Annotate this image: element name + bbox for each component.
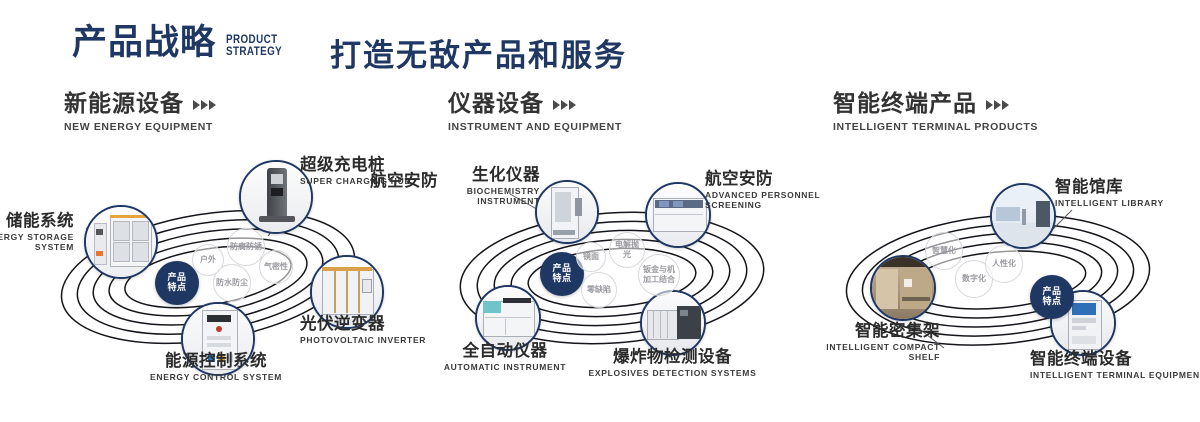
screening-photo [647,184,709,246]
product-strategy-infographic: 产品战略 PRODUCT STRATEGY 打造无敌产品和服务 新能源设备 NE… [0,0,1200,422]
label-energy-control-system: 能源控制系统 ENERGY CONTROL SYSTEM [96,352,336,383]
section-heading-en: INTELLIGENT TERMINAL PRODUCTS [833,121,1038,133]
section-heading-en: INSTRUMENT AND EQUIPMENT [448,121,622,133]
label-intelligent-terminal-equipment: 智能终端设备 INTELLIGENT TERMINAL EQUIPMENT [1030,350,1200,381]
feature-badge-new-energy: 产品 特点 [155,261,199,305]
keyword-bubble: 零缺陷 [581,272,617,308]
feature-badge-intelligent-terminal: 产品 特点 [1030,275,1074,319]
label-intelligent-library: 智能馆库 INTELLIGENT LIBRARY [1055,178,1200,209]
keyword-bubble: 智慧化 [925,232,963,270]
explosives-detection-photo [642,292,704,354]
cluster-intelligent-terminal: 智能馆库 INTELLIGENT LIBRARY 智能密集架 INTELLIGE… [800,150,1200,400]
keyword-bubble: 防水防尘 [213,264,251,302]
automatic-instrument-photo [477,287,539,349]
keyword-bubble: 电解抛光 [609,232,645,268]
energy-storage-photo [86,207,156,277]
chevron-right-icon [986,100,1009,110]
section-heading-intelligent-terminal: 智能终端产品 INTELLIGENT TERMINAL PRODUCTS [833,92,1038,133]
section-heading-cn: 仪器设备 [448,92,544,117]
library-photo [992,185,1054,247]
keyword-bubble: 人性化 [985,245,1023,283]
page-header: 产品战略 PRODUCT STRATEGY [72,26,294,61]
label-energy-storage: 储能系统 ENERGY STORAGE SYSTEM [0,212,74,253]
label-aviation-security-left: 航空安防 [318,172,438,191]
chevron-right-icon [553,100,576,110]
page-title-en: PRODUCT STRATEGY [226,33,282,58]
section-heading-en: NEW ENERGY EQUIPMENT [64,121,216,133]
keyword-bubble: 钣金与机加工结合 [638,254,680,296]
page-slogan: 打造无敌产品和服务 [330,30,627,75]
keyword-bubble: 镜面 [576,242,606,272]
keyword-bubble: 气密性 [259,250,293,284]
label-intelligent-compact-shelf: 智能密集架 INTELLIGENT COMPACT SHELF [755,322,940,363]
page-title-cn: 产品战略 [72,26,216,61]
node-advanced-personnel-screening[interactable] [645,182,711,248]
biochemistry-photo [537,182,597,242]
node-intelligent-library[interactable] [990,183,1056,249]
node-biochemistry-instrument[interactable] [535,180,599,244]
chevron-right-icon [193,100,216,110]
section-heading-instrument: 仪器设备 INSTRUMENT AND EQUIPMENT [448,92,622,133]
cluster-instrument: 生化仪器 BIOCHEMISTRY INSTRUMENT 航空安防 航空安防 A… [400,150,820,400]
section-heading-new-energy: 新能源设备 NEW ENERGY EQUIPMENT [64,92,216,133]
section-heading-cn: 智能终端产品 [833,92,977,117]
label-explosives-detection: 爆炸物检测设备 EXPLOSIVES DETECTION SYSTEMS [580,348,765,379]
section-heading-cn: 新能源设备 [64,92,184,117]
compact-shelf-photo [872,257,934,319]
node-intelligent-compact-shelf[interactable] [870,255,936,321]
node-energy-storage[interactable] [84,205,158,279]
